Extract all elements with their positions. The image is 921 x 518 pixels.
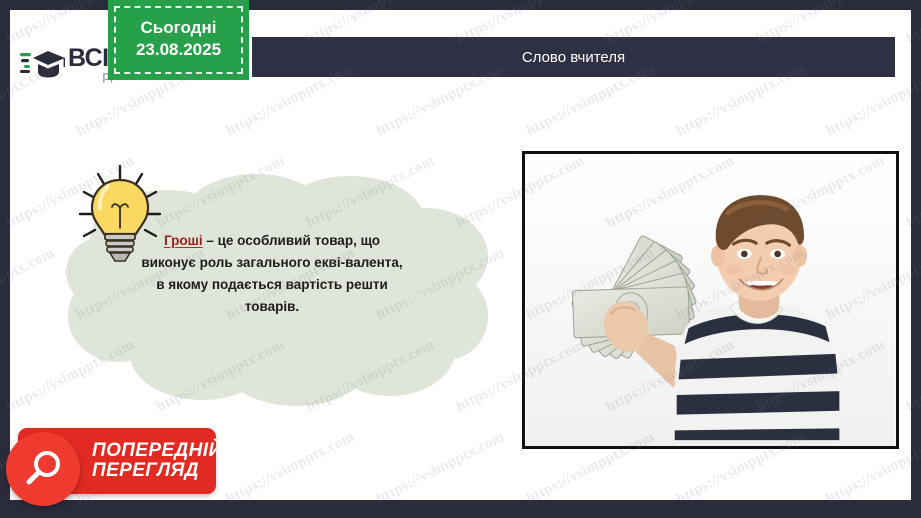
boy-holding-money-photo	[522, 151, 899, 449]
preview-badge[interactable]: ПОПЕРЕДНІЙ ПЕРЕГЛЯД	[18, 428, 216, 494]
today-label: Сьогодні	[141, 18, 217, 38]
slide-canvas: ВСІМ pptx	[10, 10, 911, 500]
preview-line-1: ПОПЕРЕДНІЙ	[92, 441, 223, 461]
today-date-badge: Сьогодні 23.08.2025	[108, 0, 249, 80]
magnifier-icon	[6, 432, 80, 506]
slide-viewer: ВСІМ pptx	[0, 0, 921, 518]
preview-badge-text: ПОПЕРЕДНІЙ ПЕРЕГЛЯД	[92, 441, 223, 481]
today-date: 23.08.2025	[136, 40, 221, 60]
preview-line-2: ПЕРЕГЛЯД	[92, 461, 223, 481]
section-header-bar: Слово вчителя	[252, 37, 895, 77]
page-title: Слово вчителя	[522, 49, 625, 66]
definition-text: Гроші – це особливий товар, що виконує р…	[138, 230, 406, 317]
lightbulb-icon	[74, 162, 166, 274]
graduation-cap-icon	[20, 44, 66, 84]
keyword-hroshi: Гроші	[164, 233, 203, 248]
bottom-frame-bar	[0, 502, 921, 518]
